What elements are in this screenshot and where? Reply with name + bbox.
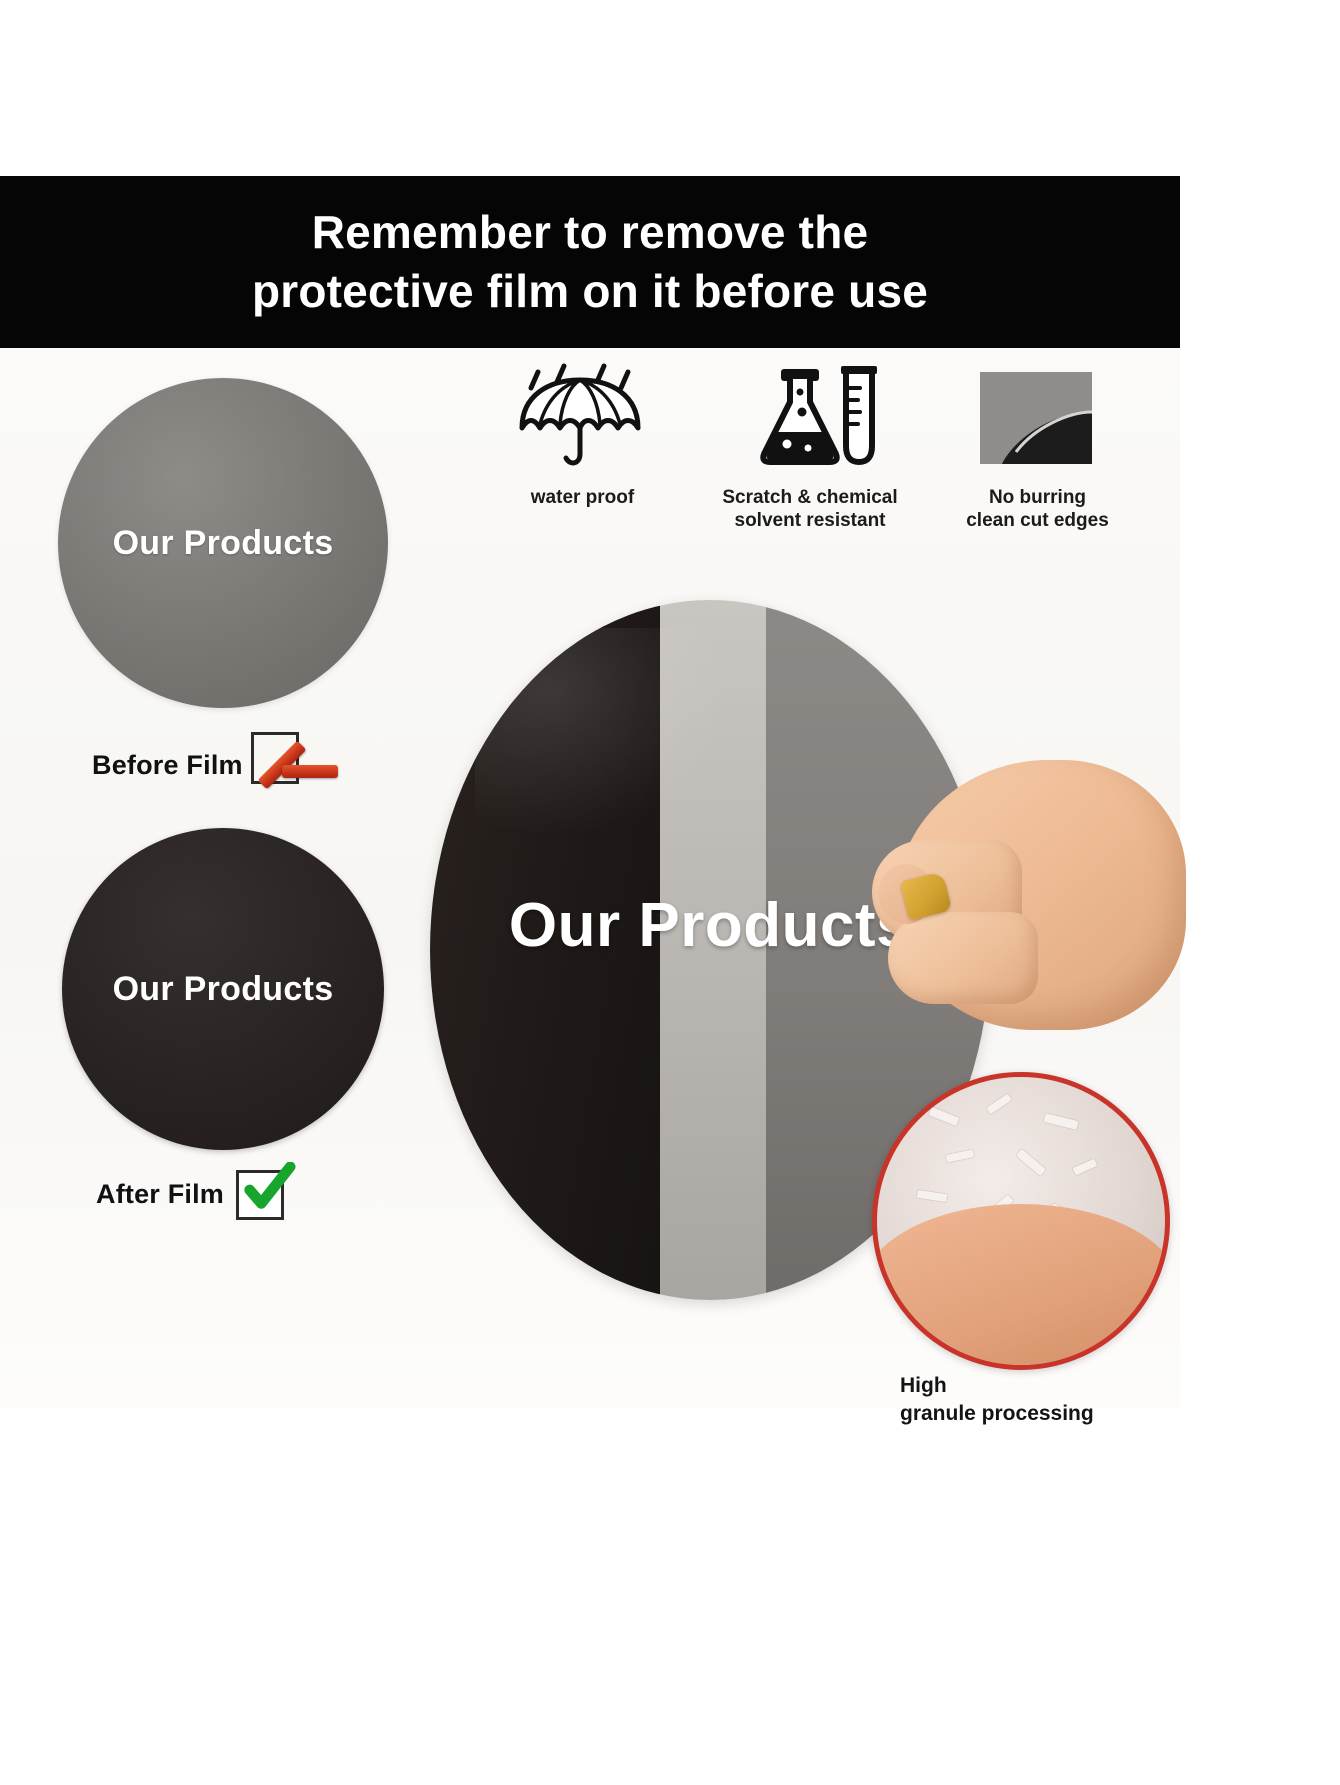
hand-holding-granules	[872, 1204, 1170, 1370]
feature-row: water proof	[480, 360, 1140, 565]
flask-test-tube-icon	[740, 360, 880, 470]
feature-scratch-chemical: Scratch & chemical solvent resistant	[708, 360, 913, 532]
product-infographic: Remember to remove the protective film o…	[0, 0, 1340, 1785]
feature-caption: water proof	[531, 486, 634, 509]
feature-water-proof: water proof	[480, 360, 685, 509]
feature-caption: No burring clean cut edges	[966, 486, 1109, 532]
granule-caption-line-2: granule processing	[900, 1400, 1150, 1428]
headline-banner: Remember to remove the protective film o…	[0, 176, 1180, 348]
hand-peeling-film	[860, 730, 1190, 1060]
granule-inset-photo	[872, 1072, 1170, 1370]
before-film-tag: Before Film	[92, 738, 309, 792]
before-film-disc: Our Products	[58, 378, 388, 708]
headline-line-1: Remember to remove the	[312, 203, 869, 262]
after-disc-label: Our Products	[113, 970, 334, 1009]
x-mark-icon	[255, 738, 309, 792]
cut-edge-sheet-icon	[972, 360, 1104, 470]
feature-clean-cut-edges: No burring clean cut edges	[935, 360, 1140, 532]
before-film-label: Before Film	[92, 750, 243, 781]
after-film-label: After Film	[96, 1179, 224, 1210]
after-film-disc: Our Products	[62, 828, 384, 1150]
feature-caption: Scratch & chemical solvent resistant	[722, 486, 897, 532]
umbrella-rain-icon	[508, 360, 658, 470]
finger-thumb	[888, 912, 1038, 1004]
headline-line-2: protective film on it before use	[252, 262, 928, 321]
check-mark-icon	[236, 1168, 294, 1220]
granule-caption-line-1: High	[900, 1372, 1150, 1400]
disc-gloss	[475, 628, 733, 838]
granule-caption: High granule processing	[900, 1372, 1150, 1428]
before-disc-label: Our Products	[113, 524, 334, 563]
after-film-tag: After Film	[96, 1168, 294, 1220]
